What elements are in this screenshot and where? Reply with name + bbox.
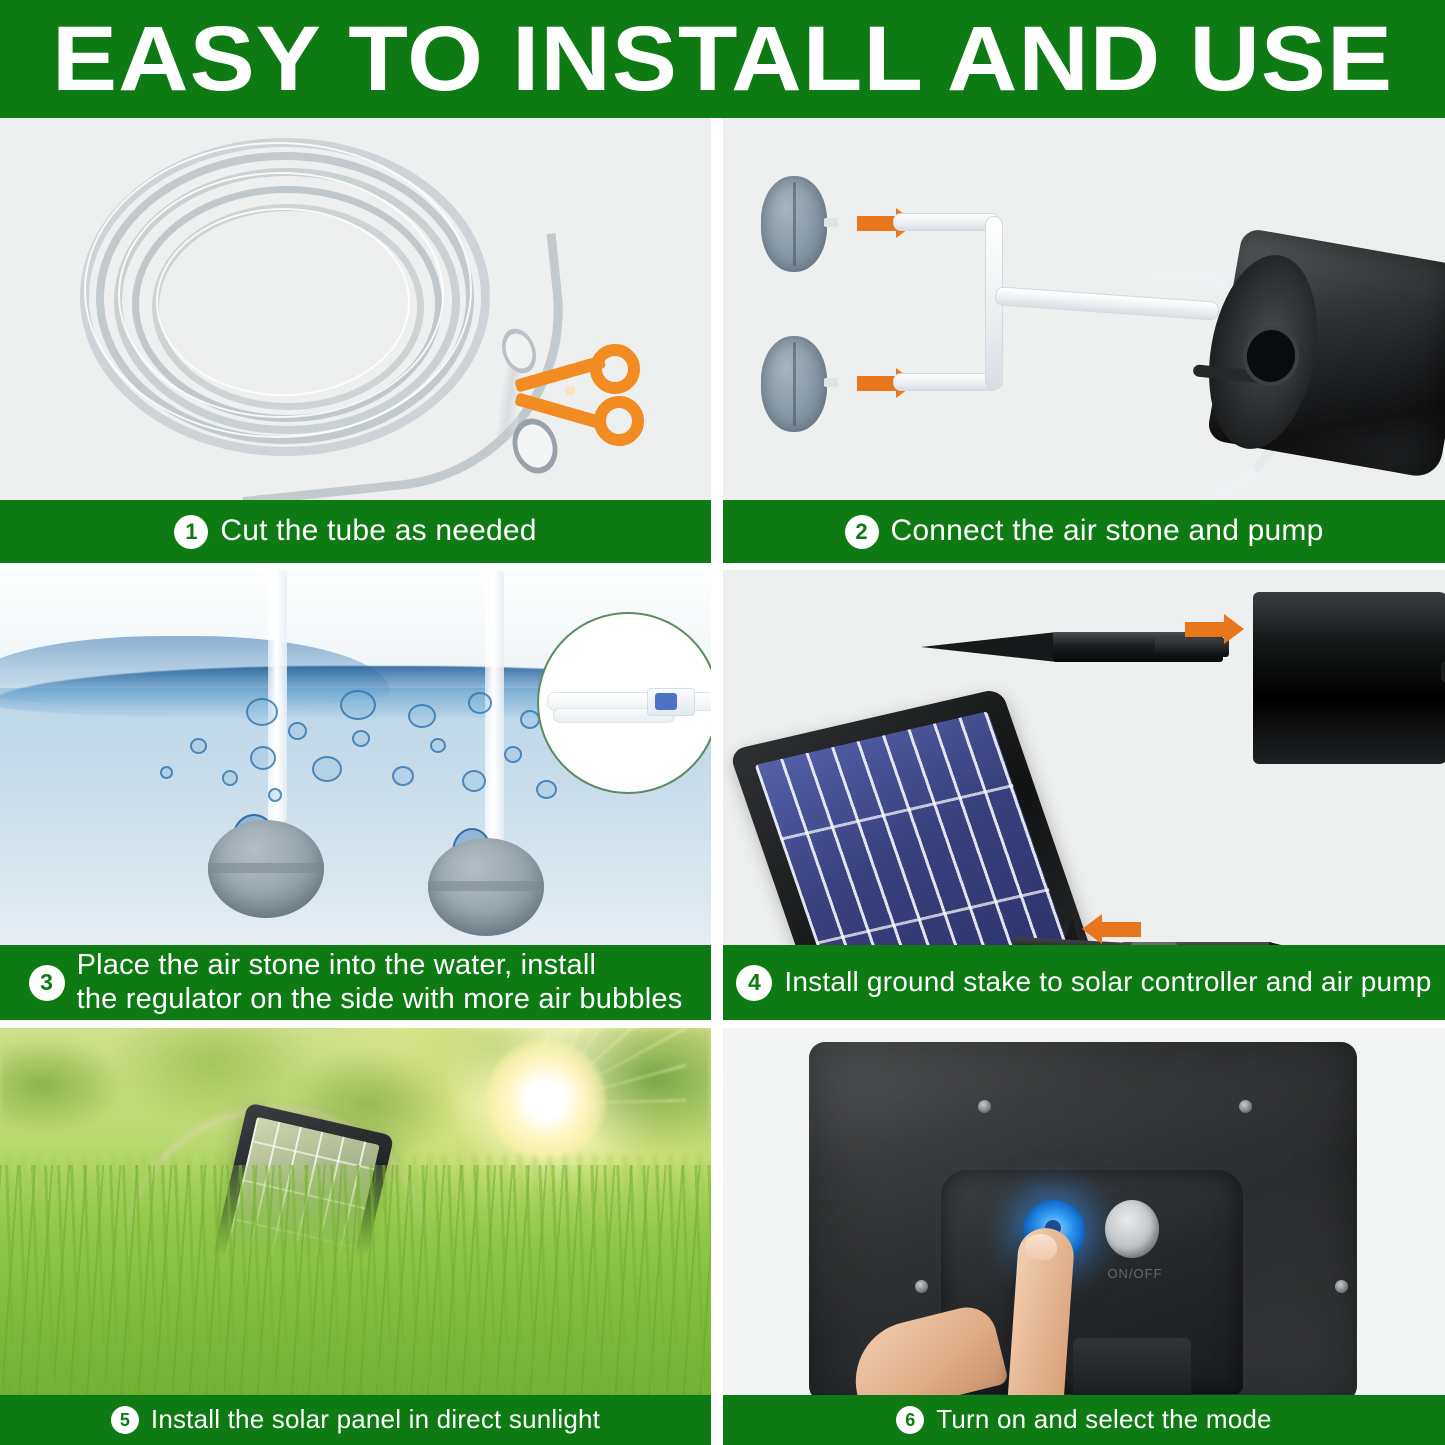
ground-stake-tip	[921, 632, 1057, 662]
step-panel-4: 4 Install ground stake to solar controll…	[723, 570, 1445, 1020]
scissors-icon	[512, 340, 632, 444]
step-number-badge: 1	[174, 515, 208, 549]
infographic-root: EASY TO INSTALL AND USE	[0, 0, 1445, 1445]
grass-foreground	[0, 1165, 711, 1395]
step-5-illustration	[0, 1028, 711, 1395]
arrow-right-icon	[857, 216, 897, 231]
ground-stake-connector	[1155, 638, 1229, 657]
solar-panel	[728, 688, 1111, 945]
mode-button[interactable]	[1105, 1200, 1159, 1258]
step-caption-text: Install ground stake to solar controller…	[784, 966, 1431, 998]
controller-foot	[1073, 1338, 1191, 1395]
air-pump	[1253, 592, 1445, 764]
screw-icon	[915, 1280, 928, 1293]
step-number-badge: 4	[736, 965, 772, 1001]
step-6-illustration: ON/OFF	[723, 1028, 1445, 1395]
step-caption-text: Connect the air stone and pump	[891, 514, 1324, 549]
step-2-illustration	[723, 118, 1445, 500]
step-panel-5: 5 Install the solar panel in direct sunl…	[0, 1028, 711, 1445]
step-caption-text: Install the solar panel in direct sunlig…	[151, 1405, 600, 1435]
screw-icon	[1239, 1100, 1252, 1113]
regulator-closeup-inset	[537, 612, 711, 794]
air-stone-submerged	[208, 820, 324, 918]
step-panel-3: 3 Place the air stone into the water, in…	[0, 570, 711, 1020]
step-caption-text: Place the air stone into the water, inst…	[77, 949, 683, 1016]
step-4-illustration	[723, 570, 1445, 945]
step-caption-text: Turn on and select the mode	[936, 1405, 1271, 1435]
step-2-caption-bar: 2 Connect the air stone and pump	[723, 500, 1445, 563]
step-panel-6: ON/OFF 6 Turn on and select the mode	[723, 1028, 1445, 1445]
step-panel-1: 1 Cut the tube as needed	[0, 118, 711, 563]
steps-grid: 1 Cut the tube as needed	[0, 118, 1445, 1445]
step-1-illustration	[0, 118, 711, 500]
air-tubing	[893, 373, 1000, 391]
step-caption-text: Cut the tube as needed	[220, 514, 536, 549]
step-panel-2: 2 Connect the air stone and pump	[723, 118, 1445, 563]
step-4-caption-bar: 4 Install ground stake to solar controll…	[723, 945, 1445, 1020]
screw-icon	[978, 1100, 991, 1113]
button-label: ON/OFF	[1095, 1266, 1175, 1281]
step-number-badge: 5	[111, 1406, 139, 1434]
step-number-badge: 3	[29, 965, 65, 1001]
solar-cells	[755, 711, 1086, 945]
air-tubing	[893, 213, 1000, 231]
arrow-right-icon	[1185, 622, 1225, 637]
air-stone-submerged	[428, 838, 544, 936]
arrow-left-icon	[1101, 922, 1141, 937]
step-number-badge: 2	[845, 515, 879, 549]
step-number-badge: 6	[896, 1406, 924, 1434]
regulator-indicator	[655, 693, 677, 710]
step-3-illustration	[0, 570, 711, 945]
header-banner: EASY TO INSTALL AND USE	[0, 0, 1445, 118]
step-5-caption-bar: 5 Install the solar panel in direct sunl…	[0, 1395, 711, 1445]
step-6-caption-bar: 6 Turn on and select the mode	[723, 1395, 1445, 1445]
air-pump-tab	[1441, 662, 1445, 682]
coiled-tube-graphic	[60, 130, 490, 480]
page-title: EASY TO INSTALL AND USE	[52, 13, 1393, 105]
sun-icon	[486, 1040, 606, 1160]
air-stone	[761, 176, 827, 272]
air-stone	[761, 336, 827, 432]
step-1-caption-bar: 1 Cut the tube as needed	[0, 500, 711, 563]
step-3-caption-bar: 3 Place the air stone into the water, in…	[0, 945, 711, 1020]
screw-icon	[1335, 1280, 1348, 1293]
arrow-right-icon	[857, 376, 897, 391]
